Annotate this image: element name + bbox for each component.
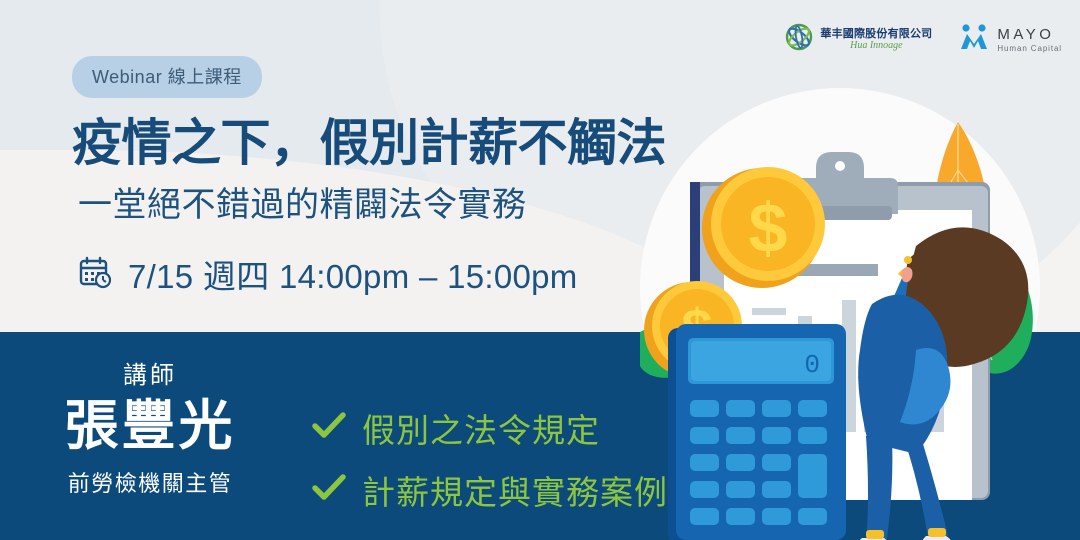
- list-item: 計薪規定與實務案例: [312, 466, 668, 514]
- datetime-text: 7/15 週四 14:00pm – 15:00pm: [128, 250, 578, 298]
- mayo-people-m-icon: [958, 22, 990, 57]
- check-icon: [312, 412, 346, 445]
- hua-innoage-logo: 華丰國際股份有限公司 Hua Innoage: [784, 22, 932, 57]
- calculator-icon: 0: [668, 324, 846, 540]
- bullet-list: 假別之法令規定 計薪規定與實務案例: [312, 404, 668, 528]
- calendar-clock-icon: [78, 255, 112, 294]
- speaker-title: 前勞檢機關主管: [0, 466, 300, 498]
- list-item: 假別之法令規定: [312, 404, 668, 452]
- bullet-text: 計薪規定與實務案例: [362, 466, 668, 514]
- page-title: 疫情之下，假別計薪不觸法: [72, 103, 666, 175]
- hua-logo-english-name: Hua Innoage: [820, 40, 932, 51]
- hua-logo-chinese-name: 華丰國際股份有限公司: [820, 28, 932, 40]
- mayo-logo-name: MAYO: [997, 26, 1062, 43]
- datetime-row: 7/15 週四 14:00pm – 15:00pm: [78, 250, 578, 298]
- logo-group: 華丰國際股份有限公司 Hua Innoage MAYO Human Capita…: [784, 22, 1062, 57]
- page-subtitle: 一堂絕不錯過的精闢法令實務: [78, 177, 527, 226]
- illustration-group: $ $: [640, 60, 1080, 540]
- speaker-block: 講師 張豐光 前勞檢機關主管: [0, 355, 300, 498]
- webinar-banner: $ $: [0, 0, 1080, 540]
- mayo-logo: MAYO Human Capital: [958, 22, 1062, 57]
- check-icon: [312, 474, 346, 507]
- svg-text:$: $: [749, 189, 788, 267]
- speaker-name: 張豐光: [0, 396, 300, 456]
- svg-text:0: 0: [804, 350, 820, 380]
- bullet-text: 假別之法令規定: [362, 404, 600, 452]
- webinar-badge: Webinar 線上課程: [72, 56, 262, 98]
- globe-swirl-icon: [784, 22, 814, 57]
- speaker-role-label: 講師: [0, 355, 300, 390]
- mayo-logo-tagline: Human Capital: [997, 44, 1062, 53]
